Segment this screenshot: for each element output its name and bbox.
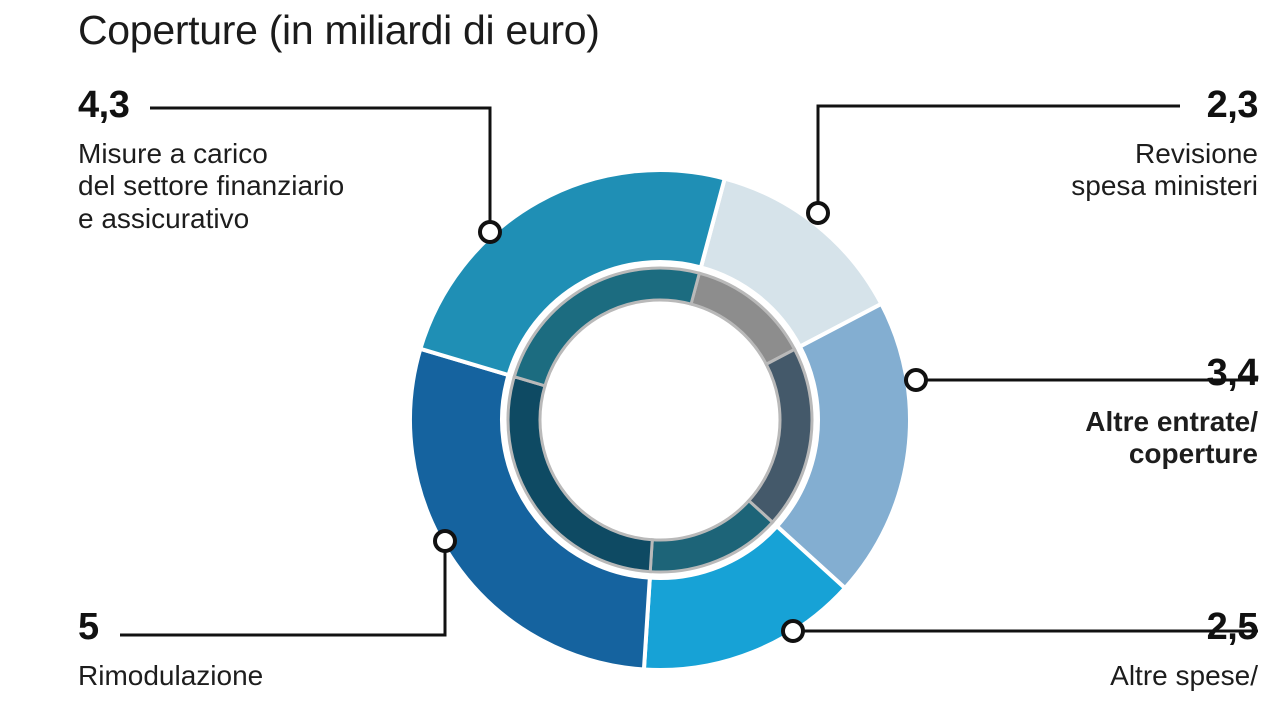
callout-revisione-spesa-ministeri: 2,3 Revisione spesa ministeri — [838, 86, 1258, 203]
callout-desc-entrate: Altre entrate/ coperture — [838, 406, 1258, 471]
callout-desc-rimodulazione: Rimodulazione — [78, 660, 478, 692]
callout-value-entrate: 3,4 — [838, 354, 1258, 392]
callout-desc-finanziario: Misure a carico del settore finanziario … — [78, 138, 478, 235]
callout-desc-spese: Altre spese/ — [838, 660, 1258, 692]
donut-outer-ring — [410, 170, 910, 670]
callout-misure-settore-finanziario: 4,3 Misure a carico del settore finanzia… — [78, 86, 478, 235]
leader-marker-rimodulazione — [435, 531, 455, 551]
callout-value-finanziario: 4,3 — [78, 86, 478, 124]
callout-altre-entrate-coperture: 3,4 Altre entrate/ coperture — [838, 354, 1258, 471]
leader-marker-revisione — [808, 203, 828, 223]
leader-marker-finanziario — [480, 222, 500, 242]
callout-desc-revisione: Revisione spesa ministeri — [838, 138, 1258, 203]
callout-value-rimodulazione: 5 — [78, 608, 478, 646]
chart-canvas: Coperture (in miliardi di euro) — [0, 0, 1280, 702]
callout-rimodulazione: 5 Rimodulazione — [78, 608, 478, 692]
callout-altre-spese: 2,5 Altre spese/ — [838, 608, 1258, 692]
leader-marker-spese — [783, 621, 803, 641]
callout-value-spese: 2,5 — [838, 608, 1258, 646]
donut-inner-ring — [508, 268, 812, 572]
callout-value-revisione: 2,3 — [838, 86, 1258, 124]
